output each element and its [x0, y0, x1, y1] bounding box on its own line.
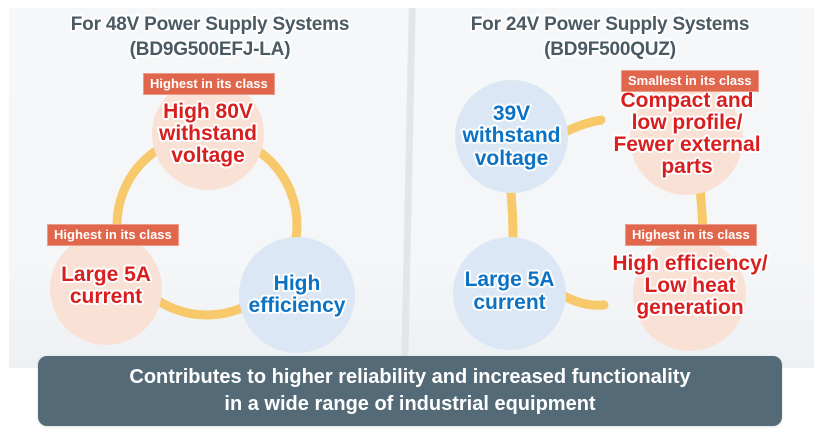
- node-large-5a-current-left[interactable]: Large 5A current: [50, 233, 162, 345]
- summary-banner-line1: Contributes to higher reliability and in…: [129, 364, 690, 391]
- node-line: current: [465, 292, 555, 314]
- node-line: Large 5A: [61, 264, 151, 286]
- node-line: High efficiency/: [592, 253, 788, 275]
- node-high-efficiency-left[interactable]: High efficiency: [239, 237, 355, 353]
- node-compact-low-profile-label: Compact and low profile/ Fewer external …: [592, 90, 782, 178]
- summary-banner: Contributes to higher reliability and in…: [38, 356, 782, 426]
- node-line: Large 5A: [465, 269, 555, 291]
- summary-banner-line2: in a wide range of industrial equipment: [224, 391, 595, 418]
- node-line: generation: [592, 297, 788, 319]
- node-line: parts: [592, 156, 782, 178]
- node-line: Fewer external: [592, 134, 782, 156]
- node-line: High: [249, 273, 346, 295]
- node-line: withstand: [463, 125, 561, 147]
- badge-highest-in-its-class-left-top: Highest in its class: [143, 73, 275, 95]
- node-line: Compact and: [592, 90, 782, 112]
- section-heading-left-line1: For 48V Power Supply Systems: [71, 14, 349, 35]
- section-heading-right-line1: For 24V Power Supply Systems: [471, 14, 749, 35]
- node-line: voltage: [159, 145, 257, 167]
- node-line: low profile/: [592, 112, 782, 134]
- badge-highest-in-its-class-left-bottom: Highest in its class: [47, 224, 179, 246]
- node-line: withstand: [159, 123, 257, 145]
- node-39v-withstand-voltage[interactable]: 39V withstand voltage: [455, 80, 568, 193]
- node-line: Low heat: [592, 275, 788, 297]
- section-heading-right-line2: (BD9F500QUZ): [430, 37, 790, 62]
- section-heading-left-line2: (BD9G500EFJ-LA): [30, 37, 390, 62]
- node-line: High 80V: [159, 101, 257, 123]
- section-heading-left: For 48V Power Supply Systems (BD9G500EFJ…: [30, 12, 390, 62]
- node-line: current: [61, 286, 151, 308]
- node-large-5a-current-right[interactable]: Large 5A current: [453, 237, 566, 350]
- badge-smallest-in-its-class: Smallest in its class: [621, 70, 759, 92]
- section-heading-right: For 24V Power Supply Systems (BD9F500QUZ…: [430, 12, 790, 62]
- badge-highest-in-its-class-right: Highest in its class: [625, 224, 757, 246]
- infographic-root: For 48V Power Supply Systems (BD9G500EFJ…: [0, 0, 823, 433]
- node-line: efficiency: [249, 295, 346, 317]
- node-high-efficiency-low-heat-label: High efficiency/ Low heat generation: [592, 253, 788, 319]
- node-line: voltage: [463, 148, 561, 170]
- node-line: 39V: [463, 103, 561, 125]
